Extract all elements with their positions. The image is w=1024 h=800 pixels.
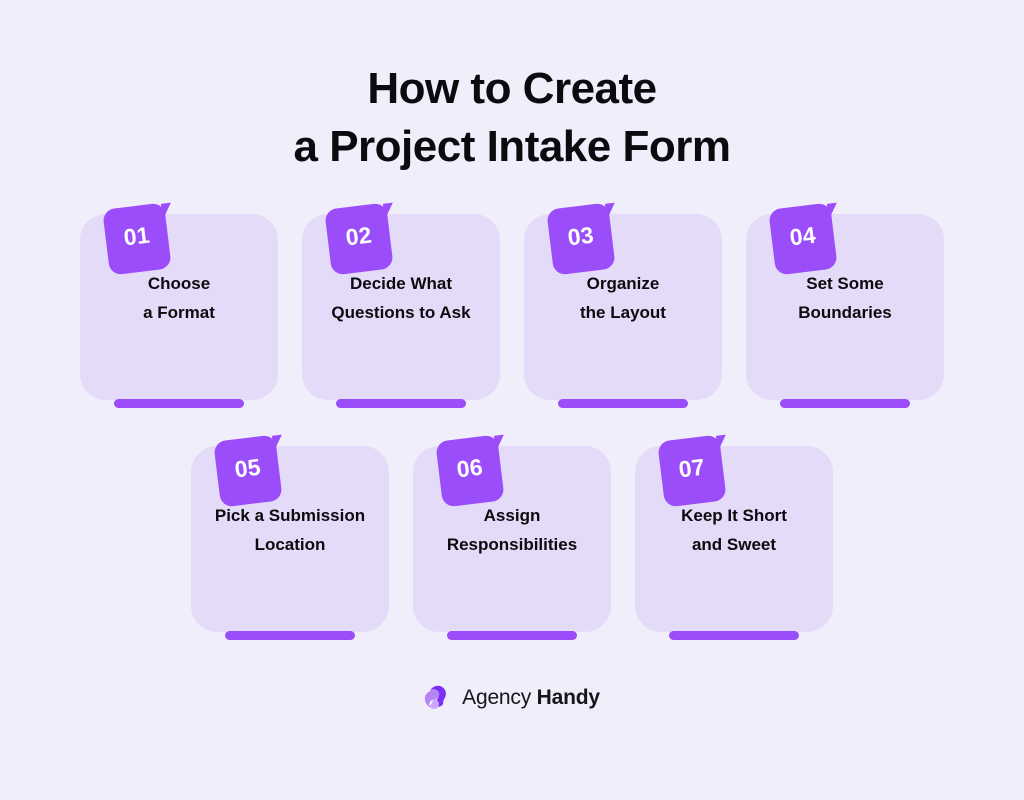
brand-name: Agency Handy [462, 686, 600, 710]
brand-name-light: Agency [462, 686, 531, 709]
step-card-06[interactable]: Assign Responsibilities 06 [413, 438, 611, 640]
step-number-badge: 05 [213, 434, 283, 507]
step-card-underline [558, 399, 688, 408]
steps-container: Choose a Format 01 Decide What Questions… [0, 206, 1024, 640]
step-number: 07 [657, 434, 727, 507]
steps-row-1: Choose a Format 01 Decide What Questions… [80, 206, 944, 408]
step-card-underline [114, 399, 244, 408]
step-card-05[interactable]: Pick a Submission Location 05 [191, 438, 389, 640]
step-number-badge: 07 [657, 434, 727, 507]
step-card-title: Decide What Questions to Ask [331, 269, 470, 327]
steps-row-2: Pick a Submission Location 05 Assign Res… [191, 438, 833, 640]
page-title: How to Create a Project Intake Form [0, 60, 1024, 176]
brand-logo: Agency Handy [424, 684, 600, 712]
step-number-badge: 03 [546, 202, 616, 275]
infographic-page: How to Create a Project Intake Form Choo… [0, 0, 1024, 800]
agency-handy-swirl-icon [424, 684, 452, 712]
step-card-title: Set Some Boundaries [798, 269, 892, 327]
step-number: 02 [324, 202, 394, 275]
step-card-underline [669, 631, 799, 640]
step-number: 03 [546, 202, 616, 275]
step-number-badge: 06 [435, 434, 505, 507]
title-line-1: How to Create [0, 60, 1024, 118]
step-card-title: Choose a Format [143, 269, 215, 327]
step-card-03[interactable]: Organize the Layout 03 [524, 206, 722, 408]
step-card-underline [336, 399, 466, 408]
step-number-badge: 01 [102, 202, 172, 275]
step-card-underline [225, 631, 355, 640]
brand-name-bold: Handy [537, 686, 600, 709]
step-card-04[interactable]: Set Some Boundaries 04 [746, 206, 944, 408]
step-card-title: Assign Responsibilities [447, 501, 577, 559]
step-card-underline [780, 399, 910, 408]
step-number: 05 [213, 434, 283, 507]
step-number-badge: 04 [768, 202, 838, 275]
step-card-07[interactable]: Keep It Short and Sweet 07 [635, 438, 833, 640]
step-card-01[interactable]: Choose a Format 01 [80, 206, 278, 408]
step-number: 06 [435, 434, 505, 507]
step-card-title: Organize the Layout [580, 269, 666, 327]
step-card-underline [447, 631, 577, 640]
title-line-2: a Project Intake Form [0, 118, 1024, 176]
step-card-title: Pick a Submission Location [215, 501, 365, 559]
step-number: 04 [768, 202, 838, 275]
step-card-02[interactable]: Decide What Questions to Ask 02 [302, 206, 500, 408]
step-card-title: Keep It Short and Sweet [681, 501, 787, 559]
step-number: 01 [102, 202, 172, 275]
step-number-badge: 02 [324, 202, 394, 275]
